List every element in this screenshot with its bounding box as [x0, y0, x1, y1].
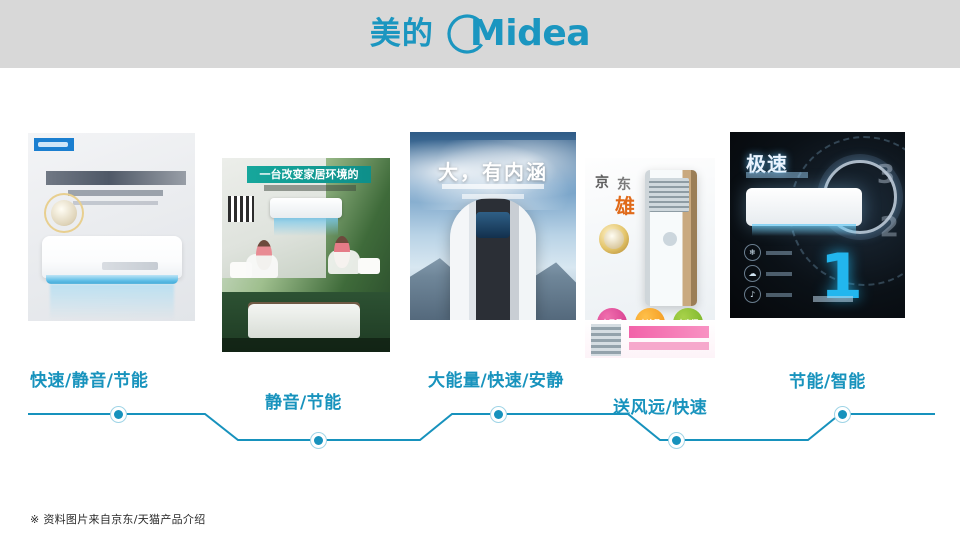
product-image-2[interactable]: 一台改变家居环境的	[222, 158, 390, 352]
timeline-node-4[interactable]	[668, 432, 685, 449]
headline-ribbon: 一台改变家居环境的	[247, 166, 371, 183]
timeline-path	[0, 396, 960, 462]
side-table-right	[358, 258, 380, 274]
brand-logo: 美的 Midea	[0, 0, 960, 68]
headline-bar	[46, 171, 186, 185]
qr-code-icon	[228, 196, 254, 222]
brand-badge-icon	[34, 138, 74, 151]
ac-unit-body	[270, 198, 342, 218]
headline-text: 一台改变家居环境的	[247, 166, 371, 183]
bed	[248, 304, 360, 338]
promo-subline-bar	[629, 342, 709, 350]
timeline-node-3[interactable]	[490, 406, 507, 423]
product-image-5[interactable]: 极速 3 2 1 ❄ ☁ ♪	[730, 132, 905, 318]
snowflake-icon: ❄	[744, 244, 761, 261]
subheadline-bar	[746, 172, 808, 178]
promo-headline-bar	[629, 326, 709, 338]
headline-char-4: 雄	[615, 190, 635, 219]
timeline-connector	[0, 396, 960, 462]
headline-graphic: 京 东 雄	[595, 172, 641, 218]
person-left	[256, 240, 272, 270]
product-caption-5: 节能/智能	[789, 367, 866, 392]
subheadline-bar	[442, 184, 544, 189]
subheadline-bar-2	[462, 194, 524, 199]
person-right	[334, 236, 350, 268]
product-caption-1: 快速/静音/节能	[30, 366, 148, 391]
subheadline-bar	[68, 190, 163, 196]
ac-thumbnail	[591, 324, 621, 356]
bedroom-scene	[222, 292, 390, 352]
award-medal-icon	[599, 224, 629, 254]
counter-2: 2	[880, 210, 899, 243]
ac-louver	[46, 275, 178, 284]
award-medal-inner	[51, 200, 77, 226]
airflow-effect	[752, 224, 856, 236]
midea-circle-mark-icon	[444, 11, 490, 57]
feature-label-2	[766, 272, 792, 276]
timeline-node-1[interactable]	[110, 406, 127, 423]
ac-brand-mark-icon	[663, 232, 677, 246]
subheadline-bar	[264, 185, 356, 191]
ac-display-panel	[102, 262, 158, 270]
ac-air-grill	[649, 178, 689, 212]
source-footnote: ※ 资料图片来自京东/天猫产品介绍	[30, 511, 206, 527]
subheadline-bar-2	[73, 201, 158, 205]
award-medal-inner	[604, 229, 624, 249]
tagline-bar	[813, 296, 853, 302]
headline-text: 大，有内涵	[410, 156, 576, 185]
slide-root: 美的 Midea 一台改变家居环境的	[0, 0, 960, 540]
ac-unit-body	[450, 198, 536, 320]
ac-unit-body	[42, 236, 182, 278]
feature-label-1	[766, 251, 792, 255]
promo-footer-band	[585, 320, 715, 358]
product-caption-3: 大能量/快速/安静	[428, 366, 564, 391]
feature-label-3	[766, 293, 792, 297]
ac-unit-body	[746, 188, 862, 226]
headline-char-1: 京	[595, 172, 609, 192]
timeline-node-5[interactable]	[834, 406, 851, 423]
award-medal-icon	[44, 193, 84, 233]
airflow-effect	[274, 218, 338, 236]
brand-name-cn: 美的	[370, 19, 434, 50]
ac-unit-body	[645, 170, 697, 306]
ac-display-panel	[476, 212, 510, 238]
cloud-icon: ☁	[744, 265, 761, 282]
product-image-4[interactable]: 京 东 雄 大风量 大冷量 大空间	[585, 158, 715, 358]
timeline-node-2[interactable]	[310, 432, 327, 449]
counter-3: 3	[877, 160, 895, 190]
sound-icon: ♪	[744, 286, 761, 303]
airflow-effect	[50, 284, 174, 320]
product-image-3[interactable]: 大，有内涵	[410, 132, 576, 320]
feature-footer-bar	[222, 338, 390, 352]
product-image-1[interactable]	[28, 133, 195, 321]
